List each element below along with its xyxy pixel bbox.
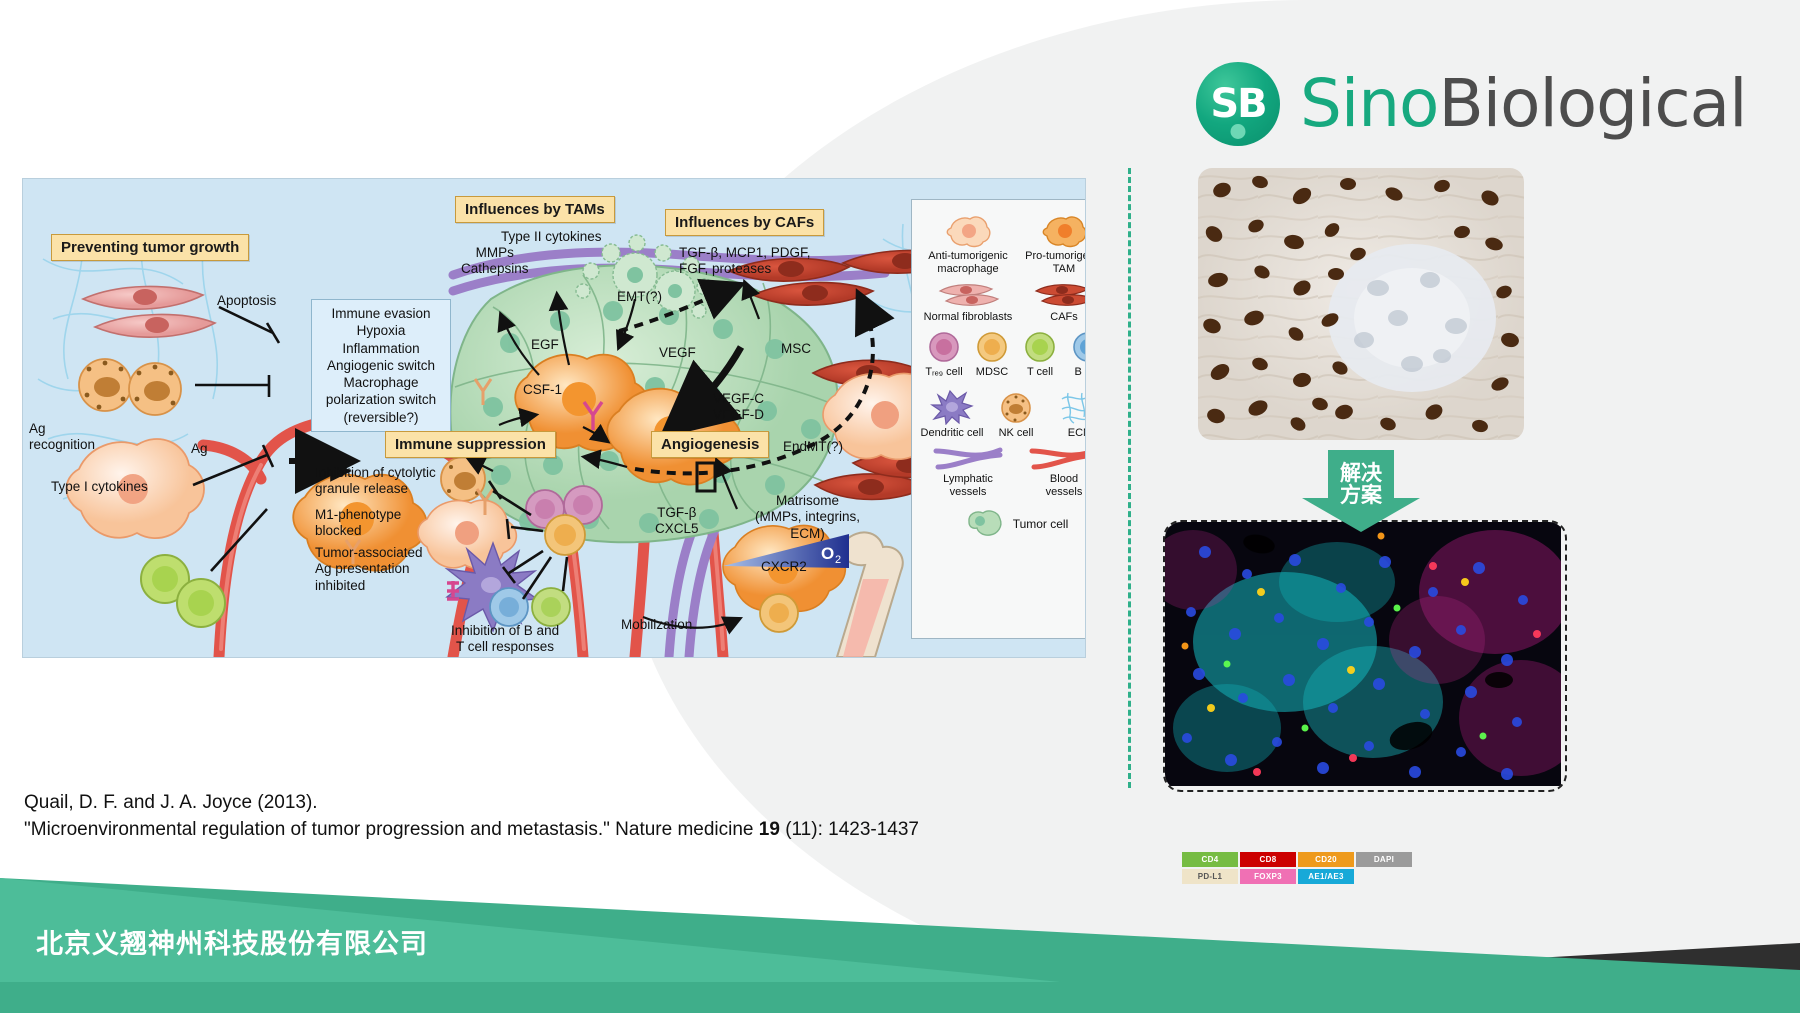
legend-item-ecm: ECM <box>1048 391 1086 440</box>
pro-tumorigenic-tam-icon <box>1041 212 1086 248</box>
legend-caption: Tumor cell <box>1013 518 1069 532</box>
marker-chip-pdl1: PD-L1 <box>1182 869 1238 884</box>
t-cell-icon <box>1023 330 1057 364</box>
label-inhibition-cytolytic: Inhibition of cytolytic granule release <box>315 465 436 498</box>
legend-item-lymphatic-vessels: Lymphatic vessels <box>920 445 1016 498</box>
marker-chip-cd8: CD8 <box>1240 852 1296 867</box>
legend-caption: Tᵣₑ₉ cell <box>925 366 962 379</box>
brand-logo: SB SinoBiological <box>1196 62 1746 146</box>
label-type-i-cytokines: Type I cytokines <box>51 479 148 495</box>
label-type-ii-cytokines: Type II cytokines <box>501 229 602 245</box>
label-inhibition-b-t: Inhibition of B and T cell responses <box>451 623 559 656</box>
legend-caption: Blood vessels <box>1046 473 1083 498</box>
legend-row-tumor-cell: Tumor cell <box>920 508 1086 538</box>
marker-chip-row-2: PD-L1 FOXP3 AE1/AE3 <box>1182 869 1412 884</box>
ecm-icon <box>1060 391 1086 425</box>
marker-chip-row-1: CD4 CD8 CD20 DAPI <box>1182 852 1412 867</box>
label-matrisome: Matrisome (MMPs, integrins, ECM) <box>755 493 860 542</box>
legend-item-blood-vessels: Blood vessels <box>1016 445 1086 498</box>
logo-word-sino: Sino <box>1300 65 1438 142</box>
legend-item-nk-cell: NK cell <box>984 391 1048 440</box>
tumor-microenvironment-figure: O 2 Preventing tumor growth Influences b… <box>22 178 1086 658</box>
marker-legend-chips: CD4 CD8 CD20 DAPI PD-L1 FOXP3 AE1/AE3 <box>1182 852 1412 884</box>
lymphatic-vessels-icon <box>932 445 1004 471</box>
label-ag-presentation: Tumor-associated Ag presentation inhibit… <box>315 545 423 594</box>
legend-item-anti-tumorigenic-macrophage: Anti-tumorigenic macrophage <box>920 212 1016 275</box>
normal-fibroblasts-icon <box>936 281 1000 309</box>
callout-immune-suppression: Immune suppression <box>385 431 556 458</box>
callout-angiogenesis: Angiogenesis <box>651 431 769 458</box>
b-cell-icon <box>1071 330 1086 364</box>
label-apoptosis: Apoptosis <box>217 293 276 309</box>
legend-caption: B cell <box>1075 366 1086 379</box>
svg-text:O: O <box>821 544 834 563</box>
mdsc-icon <box>975 330 1009 364</box>
dendritic-cell-icon <box>930 385 974 425</box>
multiplex-if-image <box>1163 520 1567 792</box>
logo-word-biological: Biological <box>1438 65 1746 142</box>
label-ag-recognition: Ag recognition <box>29 421 95 454</box>
label-vegf-c-d: VEGF-C VEGF-D <box>713 391 764 424</box>
legend-row-lymphocytes: Tᵣₑ₉ cell MDSC T cell <box>920 330 1086 379</box>
logo-badge-text: SB <box>1210 81 1265 127</box>
legend-item-b-cell: B cell <box>1064 330 1086 379</box>
anti-tumorigenic-macrophage-icon <box>945 212 991 248</box>
legend-caption: Lymphatic vessels <box>943 473 993 498</box>
label-msc: MSC <box>781 341 811 357</box>
treg-cell-icon <box>927 330 961 364</box>
nk-cell-icon <box>999 391 1033 425</box>
legend-row-dendritic-nk-ecm: Dendritic cell NK cell <box>920 385 1086 440</box>
blood-vessels-icon <box>1028 445 1086 471</box>
marker-chip-dapi: DAPI <box>1356 852 1412 867</box>
citation-pages: (11): 1423-1437 <box>780 819 919 840</box>
multiplex-if-canvas <box>1165 522 1561 786</box>
legend-item-mdsc: MDSC <box>968 330 1016 379</box>
citation-line-2: "Microenvironmental regulation of tumor … <box>24 817 919 844</box>
label-mmps-cathepsins: MMPs Cathepsins <box>461 245 529 278</box>
legend-caption: ECM <box>1068 427 1086 440</box>
marker-chip-foxp3: FOXP3 <box>1240 869 1296 884</box>
citation-volume: 19 <box>759 819 780 840</box>
callout-influences-by-cafs: Influences by CAFs <box>665 209 824 236</box>
legend-caption: T cell <box>1027 366 1053 379</box>
marker-chip-cd4: CD4 <box>1182 852 1238 867</box>
label-tgfb-mcp1: TGF-β, MCP1, PDGF, FGF, proteases <box>679 245 811 278</box>
label-cxcr2: CXCR2 <box>761 559 807 575</box>
label-csf1: CSF-1 <box>523 382 562 398</box>
label-egf: EGF <box>531 337 559 353</box>
cafs-icon <box>1032 281 1086 309</box>
legend-row-macrophages: Anti-tumorigenic macrophage Pro-tumorige… <box>920 212 1086 275</box>
ihc-image-canvas <box>1198 168 1524 440</box>
legend-item-cafs: CAFs <box>1016 281 1086 324</box>
tumor-cell-icon <box>964 508 1004 538</box>
label-endmt: EndMT(?) <box>783 439 843 455</box>
legend-item-treg-cell: Tᵣₑ₉ cell <box>920 330 968 379</box>
logo-badge-icon: SB <box>1196 62 1280 146</box>
solution-arrow-label: 解决 方案 <box>1316 462 1406 506</box>
citation-title: "Microenvironmental regulation of tumor … <box>24 819 759 840</box>
logo-wordmark: SinoBiological <box>1300 71 1746 137</box>
label-vegf: VEGF <box>659 345 696 361</box>
ihc-image <box>1198 168 1524 440</box>
vertical-dashed-divider <box>1128 168 1131 788</box>
legend-item-pro-tumorigenic-tam: Pro-tumorigenic TAM <box>1016 212 1086 275</box>
legend-caption: MDSC <box>976 366 1008 379</box>
legend-item-normal-fibroblasts: Normal fibroblasts <box>920 281 1016 324</box>
legend-caption: CAFs <box>1050 311 1078 324</box>
legend-item-t-cell: T cell <box>1016 330 1064 379</box>
citation: Quail, D. F. and J. A. Joyce (2013). "Mi… <box>24 790 919 844</box>
label-m1-blocked: M1-phenotype blocked <box>315 507 401 540</box>
legend-row-vessels: Lymphatic vessels Blood vessels <box>920 445 1086 498</box>
label-ag: Ag <box>191 441 208 457</box>
legend-item-dendritic-cell: Dendritic cell <box>920 385 984 440</box>
legend-caption: Dendritic cell <box>921 427 984 440</box>
callout-influences-by-tams: Influences by TAMs <box>455 196 615 223</box>
svg-text:2: 2 <box>835 554 841 566</box>
legend-caption: NK cell <box>999 427 1034 440</box>
legend-caption: Pro-tumorigenic TAM <box>1025 250 1086 275</box>
footer-company-name: 北京义翘神州科技股份有限公司 <box>36 922 428 961</box>
figure-legend: Anti-tumorigenic macrophage Pro-tumorige… <box>911 199 1086 639</box>
legend-row-fibroblasts: Normal fibroblasts CAFs <box>920 281 1086 324</box>
info-box-evasion: Immune evasion Hypoxia Inflammation Angi… <box>311 299 451 432</box>
label-emt: EMT(?) <box>617 289 662 305</box>
marker-chip-cd20: CD20 <box>1298 852 1354 867</box>
label-tgfb-cxcl5: TGF-β CXCL5 <box>655 505 699 538</box>
legend-caption: Anti-tumorigenic macrophage <box>928 250 1007 275</box>
callout-preventing-tumor-growth: Preventing tumor growth <box>51 234 249 261</box>
legend-caption: Normal fibroblasts <box>924 311 1013 324</box>
citation-line-1: Quail, D. F. and J. A. Joyce (2013). <box>24 790 919 817</box>
label-mobilization: Mobilization <box>621 617 692 633</box>
marker-chip-ae1ae3: AE1/AE3 <box>1298 869 1354 884</box>
